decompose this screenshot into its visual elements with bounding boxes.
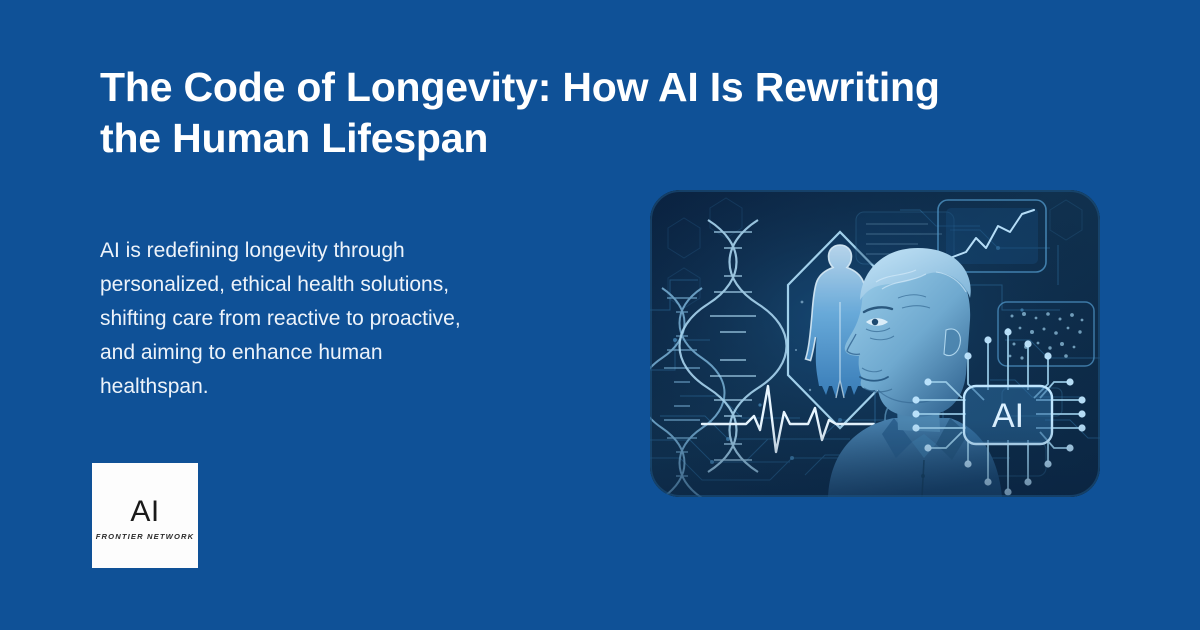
page-subtitle: AI is redefining longevity through perso… — [100, 234, 580, 404]
ai-longevity-illustration: AI — [650, 190, 1100, 497]
logo-wordmark-text: FRONTIER NETWORK — [96, 532, 195, 541]
text-column: The Code of Longevity: How AI Is Rewriti… — [100, 62, 600, 164]
logo[interactable]: AI FRONTIER NETWORK — [92, 463, 198, 568]
logo-mark-text: AI — [130, 497, 159, 527]
social-share-banner: The Code of Longevity: How AI Is Rewriti… — [0, 0, 1200, 630]
page-title: The Code of Longevity: How AI Is Rewriti… — [100, 62, 1130, 164]
